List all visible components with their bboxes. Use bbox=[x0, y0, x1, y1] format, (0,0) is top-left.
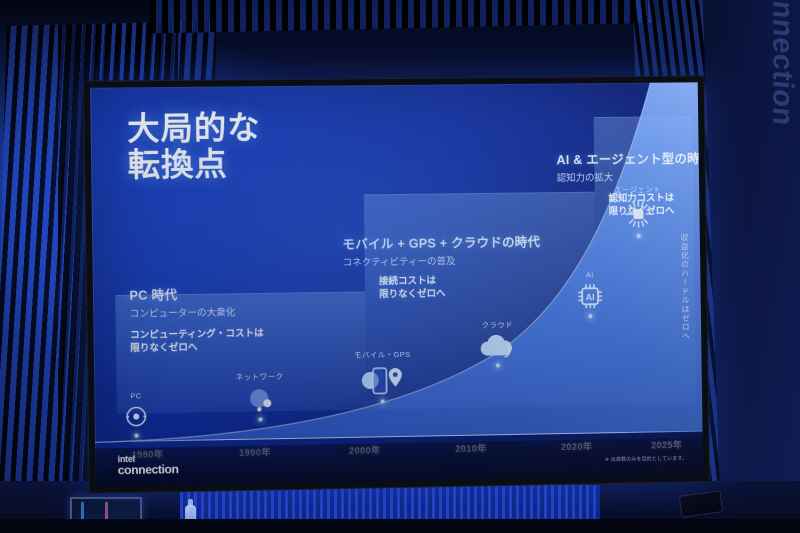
venue-brand-line2: connection bbox=[769, 0, 797, 127]
venue-brand-wall: intel connection bbox=[769, 0, 800, 130]
presentation-display: 大局的な 転換点 PC 時代 コンピューターの大衆化 コンピューティング・コスト… bbox=[83, 75, 710, 494]
stage-edge bbox=[0, 519, 800, 533]
screen-vignette bbox=[90, 82, 703, 486]
display-screen: 大局的な 転換点 PC 時代 コンピューターの大衆化 コンピューティング・コスト… bbox=[90, 82, 703, 486]
photo-scene: intel connection bbox=[0, 0, 800, 533]
